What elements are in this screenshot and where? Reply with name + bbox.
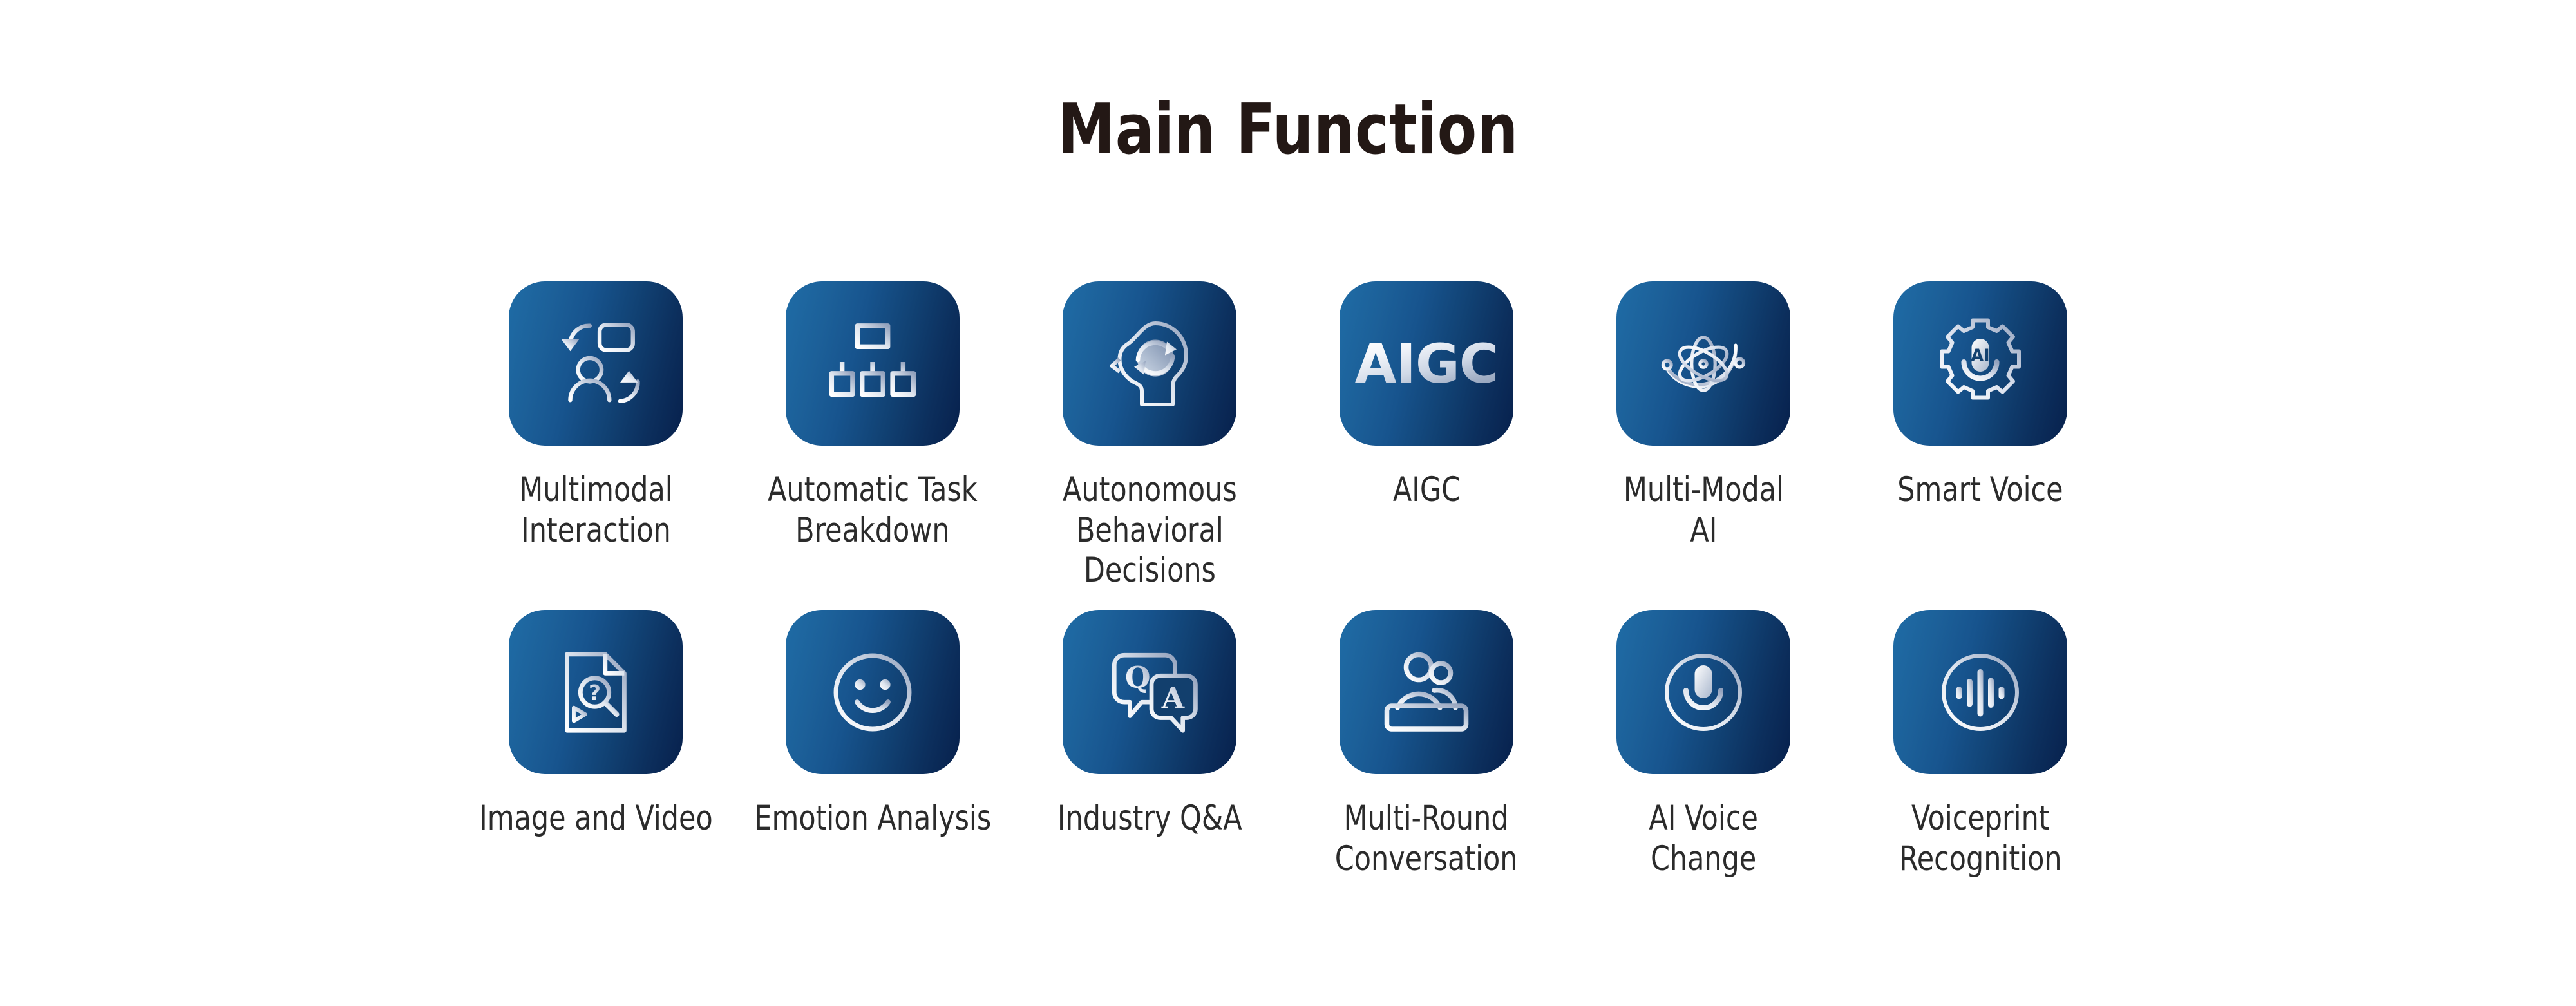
function-card-industry-qa[interactable]: Q A Industry Q&A xyxy=(1011,610,1288,839)
function-label: Voiceprint Recognition xyxy=(1899,799,2062,879)
function-card-multimodal-interaction[interactable]: Multimodal Interaction xyxy=(457,281,734,551)
icon-tile[interactable] xyxy=(509,281,683,446)
function-card-autonomous-behavioral-decisions[interactable]: Autonomous Behavioral Decisions xyxy=(1011,281,1288,591)
q-glyph: Q xyxy=(1125,660,1151,694)
function-label: Automatic Task Breakdown xyxy=(768,470,978,551)
smiley-face-icon xyxy=(824,644,921,741)
icon-tile[interactable] xyxy=(1616,281,1790,446)
icon-tile[interactable]: AIGC xyxy=(1340,281,1513,446)
atom-orbit-icon xyxy=(1654,315,1752,413)
head-decision-refresh-icon xyxy=(1101,316,1198,412)
microphone-circle-icon xyxy=(1655,644,1752,741)
multi-person-desk-icon xyxy=(1378,644,1475,741)
icon-tile[interactable] xyxy=(1063,281,1236,446)
function-label: Multi-Modal AI xyxy=(1623,470,1783,551)
icon-tile[interactable]: Q A xyxy=(1063,610,1236,774)
function-label: AI Voice Change xyxy=(1649,799,1757,879)
icon-tile[interactable]: ? xyxy=(509,610,683,774)
gear-microphone-ai-label: AI xyxy=(1971,346,1989,365)
function-label: Multi-Round Conversation xyxy=(1335,799,1518,879)
document-search-video-icon: ? xyxy=(548,645,643,740)
function-label: Autonomous Behavioral Decisions xyxy=(1063,470,1237,591)
function-card-ai-voice-change[interactable]: AI Voice Change xyxy=(1565,610,1842,879)
question-mark-glyph: ? xyxy=(589,680,601,705)
icon-tile[interactable] xyxy=(786,610,960,774)
aigc-text-icon: AIGC xyxy=(1355,337,1499,391)
function-label: Image and Video xyxy=(479,799,713,839)
function-card-smart-voice[interactable]: AI Smart Voice xyxy=(1842,281,2119,511)
multimodal-interaction-icon xyxy=(547,315,645,413)
function-label: Smart Voice xyxy=(1897,470,2063,511)
function-row-1: Multimodal Interaction xyxy=(0,281,2576,591)
icon-tile[interactable] xyxy=(786,281,960,446)
a-glyph: A xyxy=(1161,680,1185,715)
icon-tile[interactable] xyxy=(1340,610,1513,774)
icon-tile[interactable] xyxy=(1893,610,2067,774)
function-label: Emotion Analysis xyxy=(754,799,991,839)
function-card-multi-modal-ai[interactable]: Multi-Modal AI xyxy=(1565,281,1842,551)
icon-tile[interactable] xyxy=(1616,610,1790,774)
function-row-2: ? Image and Video xyxy=(0,610,2576,879)
qa-speech-bubbles-icon: Q A xyxy=(1101,643,1198,741)
function-card-image-and-video[interactable]: ? Image and Video xyxy=(457,610,734,839)
task-breakdown-hierarchy-icon xyxy=(825,316,920,412)
voiceprint-waveform-icon xyxy=(1932,644,2029,741)
function-label: Industry Q&A xyxy=(1057,799,1242,839)
function-card-multi-round-conversation[interactable]: Multi-Round Conversation xyxy=(1288,610,1565,879)
gear-microphone-ai-icon: AI xyxy=(1932,316,2029,412)
function-card-aigc[interactable]: AIGC AIGC xyxy=(1288,281,1565,511)
page-title: Main Function xyxy=(103,95,2473,165)
function-card-emotion-analysis[interactable]: Emotion Analysis xyxy=(734,610,1011,839)
function-label: AIGC xyxy=(1392,470,1460,511)
function-card-voiceprint-recognition[interactable]: Voiceprint Recognition xyxy=(1842,610,2119,879)
icon-tile[interactable]: AI xyxy=(1893,281,2067,446)
main-function-section: Main Function xyxy=(0,0,2576,1006)
function-label: Multimodal Interaction xyxy=(519,470,672,551)
function-card-automatic-task-breakdown[interactable]: Automatic Task Breakdown xyxy=(734,281,1011,551)
